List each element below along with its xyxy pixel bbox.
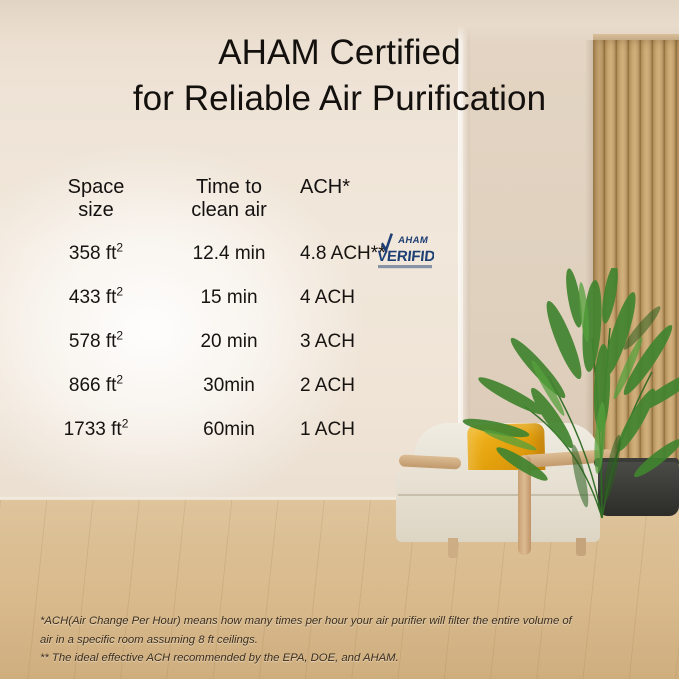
cell-ach: 3 ACH <box>300 320 430 364</box>
cell-space-size: 578 ft2 <box>28 320 164 364</box>
space-unit: ft <box>106 331 117 352</box>
cell-space-size: 433 ft2 <box>28 276 164 320</box>
space-size-label-line1: Space <box>28 176 164 199</box>
page-title: AHAM Certified for Reliable Air Purifica… <box>0 30 679 122</box>
column-header-ach: ACH* <box>300 176 420 199</box>
svg-text:AHAM: AHAM <box>397 235 429 246</box>
footnote-line-2: air in a specific room assuming 8 ft cei… <box>40 631 660 650</box>
cell-time: 30min <box>164 364 294 408</box>
space-unit: ft <box>106 287 117 308</box>
title-line-1: AHAM Certified <box>218 33 461 72</box>
cell-time: 60min <box>164 408 294 452</box>
space-value: 358 <box>69 243 101 264</box>
title-line-2: for Reliable Air Purification <box>0 76 679 122</box>
armchair-leg-left <box>448 538 458 558</box>
cell-space-size: 358 ft2 <box>28 232 164 276</box>
time-label-line2: clean air <box>164 199 294 222</box>
ach-table: Space size Time to clean air ACH* 358 ft… <box>28 176 448 452</box>
cell-ach: 4 ACH <box>300 276 430 320</box>
cell-ach: 2 ACH <box>300 364 430 408</box>
space-value: 1733 <box>64 419 106 440</box>
space-unit: ft <box>106 375 117 396</box>
areca-palm-plant <box>452 268 679 518</box>
space-value: 866 <box>69 375 101 396</box>
time-label-line1: Time to <box>164 176 294 199</box>
cell-space-size: 1733 ft2 <box>28 408 164 452</box>
svg-text:VERIFIDE: VERIFIDE <box>376 248 434 265</box>
space-unit: ft <box>106 243 117 264</box>
footnote-line-1: *ACH(Air Change Per Hour) means how many… <box>40 612 660 631</box>
table-row: 578 ft2 20 min 3 ACH <box>28 320 448 364</box>
aham-verifide-badge: AHAM VERIFIDE <box>376 230 434 272</box>
space-unit-exponent: 2 <box>122 417 129 431</box>
column-header-time-to-clean-air: Time to clean air <box>164 176 294 222</box>
space-unit: ft <box>111 419 122 440</box>
cell-time: 12.4 min <box>164 232 294 276</box>
table-row: 1733 ft2 60min 1 ACH <box>28 408 448 452</box>
armchair-leg-right <box>576 538 586 556</box>
space-value: 578 <box>69 331 101 352</box>
space-value: 433 <box>69 287 101 308</box>
cell-space-size: 866 ft2 <box>28 364 164 408</box>
table-row: 866 ft2 30min 2 ACH <box>28 364 448 408</box>
column-header-space-size: Space size <box>28 176 164 222</box>
cell-time: 15 min <box>164 276 294 320</box>
cell-time: 20 min <box>164 320 294 364</box>
space-unit-exponent: 2 <box>116 285 123 299</box>
space-unit-exponent: 2 <box>116 241 123 255</box>
space-size-label-line2: size <box>28 199 164 222</box>
cell-ach: 1 ACH <box>300 408 430 452</box>
space-unit-exponent: 2 <box>116 329 123 343</box>
table-header-row: Space size Time to clean air ACH* <box>28 176 448 232</box>
footnotes: *ACH(Air Change Per Hour) means how many… <box>40 612 660 668</box>
footnote-line-3: ** The ideal effective ACH recommended b… <box>40 649 660 668</box>
table-row: 433 ft2 15 min 4 ACH <box>28 276 448 320</box>
space-unit-exponent: 2 <box>116 373 123 387</box>
